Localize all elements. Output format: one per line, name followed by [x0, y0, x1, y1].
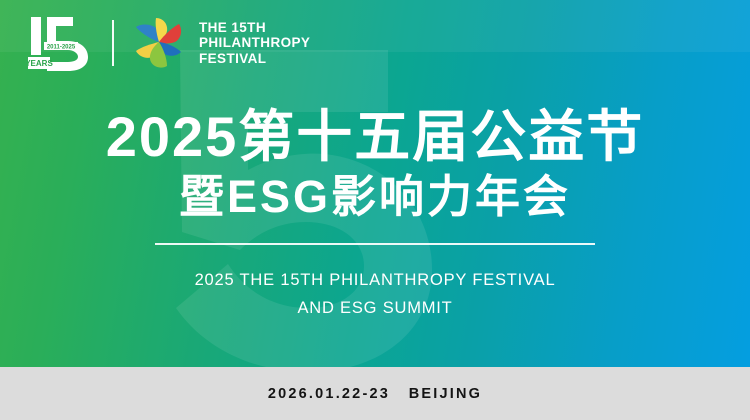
event-poster: YEARS 2011-2025 — [0, 0, 750, 420]
subtitle-english: 2025 THE 15TH PHILANTHROPY FESTIVAL AND … — [0, 266, 750, 322]
svg-text:YEARS: YEARS — [28, 59, 53, 68]
anniversary-15-icon: YEARS 2011-2025 — [28, 14, 94, 72]
footer-bar: 2026.01.22-23 BEIJING — [0, 367, 750, 420]
brand-text: THE 15TH PHILANTHROPY FESTIVAL — [199, 20, 310, 67]
subtitle-line-1: 2025 THE 15TH PHILANTHROPY FESTIVAL — [0, 266, 750, 294]
brand-line-2: PHILANTHROPY — [199, 35, 310, 51]
svg-text:2011-2025: 2011-2025 — [47, 45, 76, 51]
footer-date-city: 2026.01.22-23 BEIJING — [268, 386, 482, 402]
title-chinese-line-2: 暨ESG影响力年会 — [0, 172, 750, 222]
pinwheel-flower-icon — [130, 15, 188, 71]
title-divider-rule — [155, 243, 595, 245]
title-chinese-line-1: 2025第十五届公益节 — [0, 106, 750, 168]
subtitle-line-2: AND ESG SUMMIT — [0, 294, 750, 322]
vertical-divider-icon — [112, 20, 114, 66]
brand-line-1: THE 15TH — [199, 20, 310, 36]
logo-row: YEARS 2011-2025 — [28, 12, 310, 74]
brand-line-3: FESTIVAL — [199, 51, 310, 67]
